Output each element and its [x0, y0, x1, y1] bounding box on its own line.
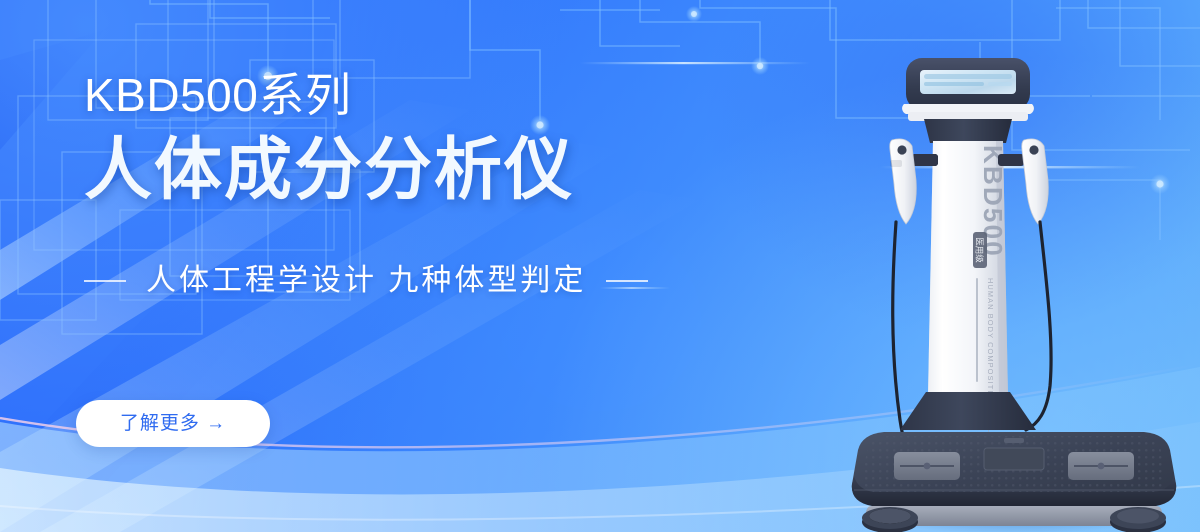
device-badge-text: 医用级 [975, 237, 985, 263]
subtitle-row: 人体工程学设计 九种体型判定 [84, 266, 648, 296]
device-column-foot [900, 392, 1036, 430]
device-display-head [902, 58, 1034, 121]
body-composition-analyzer-device: KBD500 医用级 HUMAN BODY COMPOSITION ANALYZ… [828, 20, 1200, 532]
learn-more-button[interactable]: 了解更多 → [76, 400, 270, 447]
subtitle-dash-left [84, 280, 126, 282]
page-title: 人体成分分析仪 [84, 134, 574, 207]
device-descriptor-rule [976, 278, 978, 382]
product-series-label: KBD500系列 [84, 72, 351, 118]
banner-content: KBD500系列 人体成分分析仪 人体工程学设计 九种体型判定 了解更多 → [0, 0, 720, 532]
device-neck [924, 119, 1012, 143]
product-banner: KBD500 医用级 HUMAN BODY COMPOSITION ANALYZ… [0, 0, 1200, 532]
right-cable [1026, 222, 1051, 430]
learn-more-label: 了解更多 → [120, 414, 226, 433]
subtitle-dash-right [606, 280, 648, 282]
subtitle-text: 人体工程学设计 九种体型判定 [146, 266, 586, 296]
device-badge: 医用级 [973, 232, 987, 268]
